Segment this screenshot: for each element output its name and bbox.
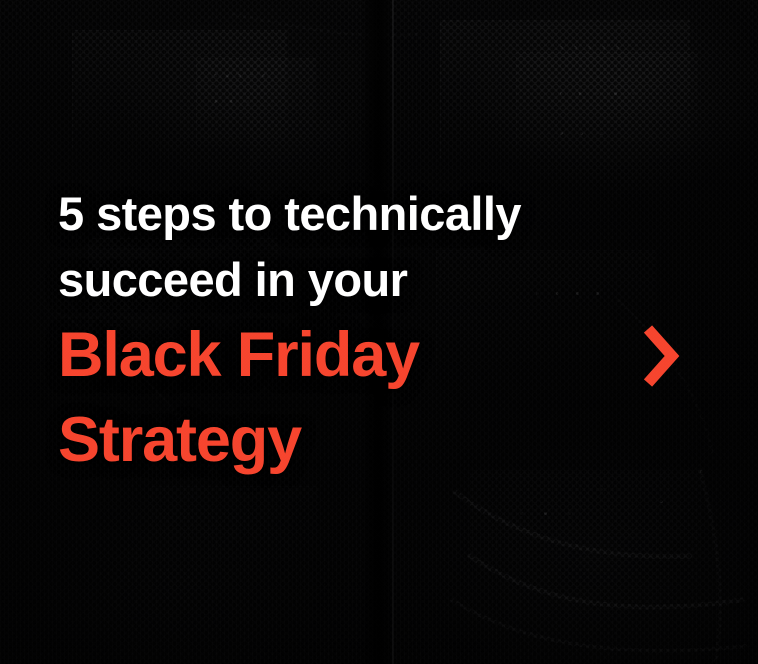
headline-kicker-line-1: 5 steps to technically	[58, 181, 718, 247]
black-friday-strategy-card[interactable]: 5 steps to technically succeed in your B…	[0, 0, 758, 664]
headline-kicker-line-2: succeed in your	[58, 247, 718, 313]
headline-emphasis-row-1: Black Friday	[58, 313, 690, 398]
headline-emphasis-line-2: Strategy	[58, 398, 718, 483]
chevron-right-icon[interactable]	[640, 323, 680, 389]
headline-emphasis-line-1: Black Friday	[58, 313, 419, 398]
promo-headline: 5 steps to technically succeed in your B…	[58, 181, 718, 483]
card-content: 5 steps to technically succeed in your B…	[0, 0, 758, 664]
